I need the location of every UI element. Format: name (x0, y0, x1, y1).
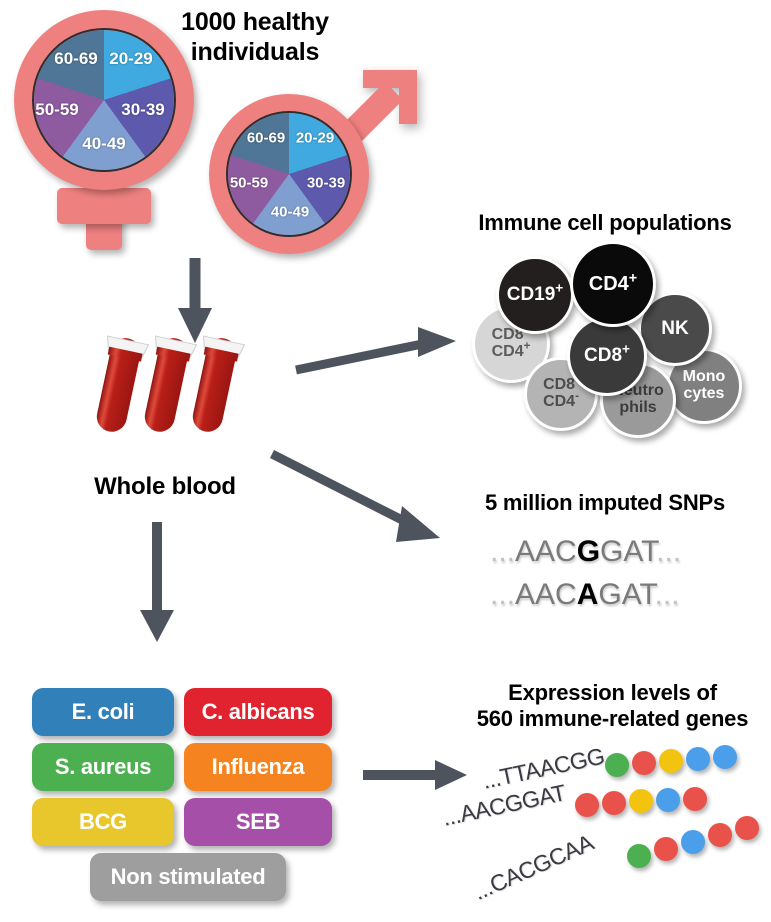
gene-chain-3-bead-2 (654, 837, 678, 861)
snps-title: 5 million imputed SNPs (460, 490, 750, 516)
gene-chain-1-bead-3 (659, 749, 683, 773)
bubble-cd19-plus: CD19+ (496, 256, 574, 334)
bubble-monocytes-label: Monocytes (683, 369, 726, 403)
female-symbol: 20-29 30-39 40-49 50-59 60-69 (0, 0, 210, 260)
snp-sequence-2-prefix: ... (490, 578, 515, 611)
gene-chain-3-bead-5 (735, 816, 759, 840)
gene-chain-1-bead-4 (686, 747, 710, 771)
female-age-label-30-39: 30-39 (121, 100, 164, 120)
bubble-cd8-minus-cd4-minus-label: CD8-CD4- (543, 377, 579, 411)
gene-chain-3-bead-3 (681, 830, 705, 854)
gene-chain-2-bead-4 (656, 788, 680, 812)
snp-sequence-2-left: AAC (515, 578, 577, 611)
stimulus-pill-e-coli[interactable]: E. coli (32, 688, 174, 736)
immune-cells-title: Immune cell populations (455, 210, 755, 236)
expression-title-line1: Expression levels of (460, 680, 765, 706)
stimulus-pill-influenza[interactable]: Influenza (184, 743, 332, 791)
gene-chain-2-bead-5 (683, 787, 707, 811)
bubble-cd4-plus-label: CD4+ (589, 274, 637, 295)
bubble-neutrophils: Neutrophils (600, 362, 676, 438)
bubble-monocytes: Monocytes (666, 348, 742, 424)
stimulus-pill-seb[interactable]: SEB (184, 798, 332, 846)
snp-sequence-2-right: GAT (598, 578, 654, 611)
female-age-label-50-59: 50-59 (35, 100, 78, 120)
stimulus-pill-c-albicans[interactable]: C. albicans (184, 688, 332, 736)
snp-sequence-2: ...AACAGAT... (490, 578, 680, 612)
stimulus-pill-bcg[interactable]: BCG (32, 798, 174, 846)
snp-sequence-1-suffix: ... (656, 535, 681, 568)
arrow-blood-to-stimuli (128, 522, 188, 647)
blood-tubes-svg (95, 330, 275, 450)
figure-canvas: 1000 healthy individuals 20-29 30-39 40-… (0, 0, 771, 922)
male-age-label-60-69: 60-69 (247, 130, 285, 147)
male-age-label-50-59: 50-59 (230, 175, 268, 192)
bubble-cd8-minus-cd4-minus: CD8-CD4- (524, 357, 598, 431)
female-age-label-40-49: 40-49 (82, 134, 125, 154)
gene-chain-3-bead-4 (708, 823, 732, 847)
gene-chain-2-bead-1 (575, 793, 599, 817)
gene-chain-3-bead-1 (627, 844, 651, 868)
snp-sequence-1-variant: G (577, 535, 600, 568)
snp-sequence-2-variant: A (577, 578, 599, 611)
female-age-label-60-69: 60-69 (54, 49, 97, 69)
blood-tube-1 (95, 334, 149, 436)
expression-title: Expression levels of 560 immune-related … (460, 680, 765, 732)
bubble-cd8-plus-label: CD8+ (584, 346, 630, 366)
bubble-nk: NK (638, 292, 712, 366)
female-age-label-20-29: 20-29 (109, 49, 152, 69)
whole-blood-group (95, 330, 275, 450)
gene-chain-1-bead-5 (713, 745, 737, 769)
snp-sequence-1-right: GAT (600, 535, 656, 568)
gene-chain-1-bead-1 (605, 753, 629, 777)
bubble-cd8-plus-cd4-plus-label: CD8+CD4+ (492, 327, 531, 361)
bubble-nk-label: NK (661, 319, 688, 339)
snp-sequence-2-suffix: ... (655, 578, 680, 611)
gene-chain-2-bead-2 (602, 791, 626, 815)
male-age-label-20-29: 20-29 (296, 130, 334, 147)
snp-sequence-1-left: AAC (515, 535, 577, 568)
bubble-cd8-plus-cd4-plus: CD8+CD4+ (472, 305, 550, 383)
gene-chain-3-sequence: ...CACGCAA (470, 829, 598, 906)
male-symbol: 20-29 30-39 40-49 50-59 60-69 (195, 60, 445, 260)
arrow-blood-to-immune-cells (292, 325, 472, 385)
arrow-blood-to-snps (268, 448, 458, 558)
snp-sequence-1-prefix: ... (490, 535, 515, 568)
gene-chain-2-bead-3 (629, 789, 653, 813)
bubble-neutrophils-label: Neutrophils (612, 383, 664, 417)
snp-sequence-1: ...AACGGAT... (490, 535, 681, 569)
gene-chains-group: ...TTAACGG ...AACGGAT ...CACGCAA (455, 740, 771, 915)
gene-chain-1-bead-2 (632, 751, 656, 775)
bubble-cd8-plus: CD8+ (567, 316, 647, 396)
stimulus-pill-s-aureus[interactable]: S. aureus (32, 743, 174, 791)
male-age-label-30-39: 30-39 (307, 175, 345, 192)
expression-title-line2: 560 immune-related genes (460, 706, 765, 732)
male-age-label-40-49: 40-49 (271, 204, 309, 221)
stimulus-pill-non-stimulated[interactable]: Non stimulated (90, 853, 286, 901)
female-symbol-stem-horizontal (57, 188, 151, 224)
bubble-cd4-plus: CD4+ (570, 241, 656, 327)
bubble-cd19-plus-label: CD19+ (507, 285, 564, 305)
whole-blood-label: Whole blood (75, 473, 255, 501)
